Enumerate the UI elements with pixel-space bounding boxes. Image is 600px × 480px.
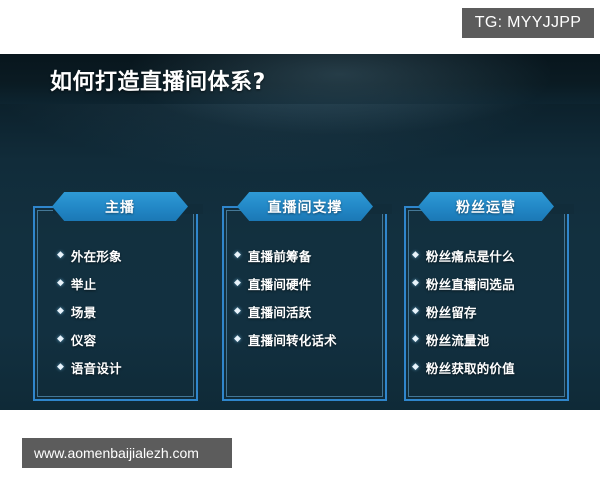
diamond-bullet-icon: ◆ [412,335,419,344]
diamond-bullet-icon: ◆ [234,335,241,344]
list-item-label: 粉丝留存 [426,302,477,321]
panel-banner-fensi-yunying: 粉丝运营 [418,192,554,221]
list-item-label: 粉丝直播间选品 [426,274,515,293]
list-item-label: 场景 [71,302,96,321]
list-item: ◆ 粉丝痛点是什么 [412,246,515,265]
list-item-label: 粉丝流量池 [426,330,490,349]
list-item: ◆ 语音设计 [57,358,122,377]
list-item-label: 直播前筹备 [248,246,312,265]
diamond-bullet-icon: ◆ [412,307,419,316]
list-item: ◆ 直播前筹备 [234,246,337,265]
list-item: ◆ 粉丝获取的价值 [412,358,515,377]
diamond-bullet-icon: ◆ [57,279,64,288]
page-title: 如何打造直播间体系? [50,64,266,96]
list-item: ◆ 举止 [57,274,122,293]
list-item: ◆ 直播间硬件 [234,274,337,293]
panel-banner-label: 粉丝运营 [456,197,516,217]
panel-banner-label: 直播间支撑 [268,197,343,217]
url-watermark: www.aomenbaijialezh.com [22,438,232,468]
bullet-list-zhubo: ◆ 外在形象 ◆ 举止 ◆ 场景 ◆ 仪容 ◆ 语音设计 [57,246,122,386]
diamond-bullet-icon: ◆ [234,307,241,316]
list-item-label: 举止 [71,274,96,293]
diamond-bullet-icon: ◆ [412,251,419,260]
list-item: ◆ 仪容 [57,330,122,349]
panel-banner-label: 主播 [105,197,135,217]
slide-canvas: 如何打造直播间体系? 主播 直播间支撑 粉丝运营 ◆ 外在形象 ◆ 举止 ◆ 场… [0,54,600,410]
list-item-label: 外在形象 [71,246,122,265]
list-item: ◆ 粉丝流量池 [412,330,515,349]
diamond-bullet-icon: ◆ [234,279,241,288]
list-item-label: 直播间活跃 [248,302,312,321]
list-item-label: 粉丝痛点是什么 [426,246,515,265]
diamond-bullet-icon: ◆ [412,363,419,372]
diamond-bullet-icon: ◆ [57,251,64,260]
bullet-list-zhibojian-zhicheng: ◆ 直播前筹备 ◆ 直播间硬件 ◆ 直播间活跃 ◆ 直播间转化话术 [234,246,337,358]
list-item: ◆ 直播间转化话术 [234,330,337,349]
list-item-label: 仪容 [71,330,96,349]
panel-banner-zhibojian-zhicheng: 直播间支撑 [237,192,373,221]
list-item-label: 直播间转化话术 [248,330,337,349]
list-item: ◆ 粉丝直播间选品 [412,274,515,293]
tg-watermark: TG: MYYJJPP [462,8,594,38]
list-item: ◆ 粉丝留存 [412,302,515,321]
list-item-label: 粉丝获取的价值 [426,358,515,377]
diamond-bullet-icon: ◆ [57,363,64,372]
list-item: ◆ 直播间活跃 [234,302,337,321]
list-item-label: 直播间硬件 [248,274,312,293]
diamond-bullet-icon: ◆ [234,251,241,260]
diamond-bullet-icon: ◆ [412,279,419,288]
list-item: ◆ 外在形象 [57,246,122,265]
diamond-bullet-icon: ◆ [57,307,64,316]
diamond-bullet-icon: ◆ [57,335,64,344]
list-item: ◆ 场景 [57,302,122,321]
bullet-list-fensi-yunying: ◆ 粉丝痛点是什么 ◆ 粉丝直播间选品 ◆ 粉丝留存 ◆ 粉丝流量池 ◆ 粉丝获… [412,246,515,386]
panel-banner-zhubo: 主播 [52,192,188,221]
list-item-label: 语音设计 [71,358,122,377]
